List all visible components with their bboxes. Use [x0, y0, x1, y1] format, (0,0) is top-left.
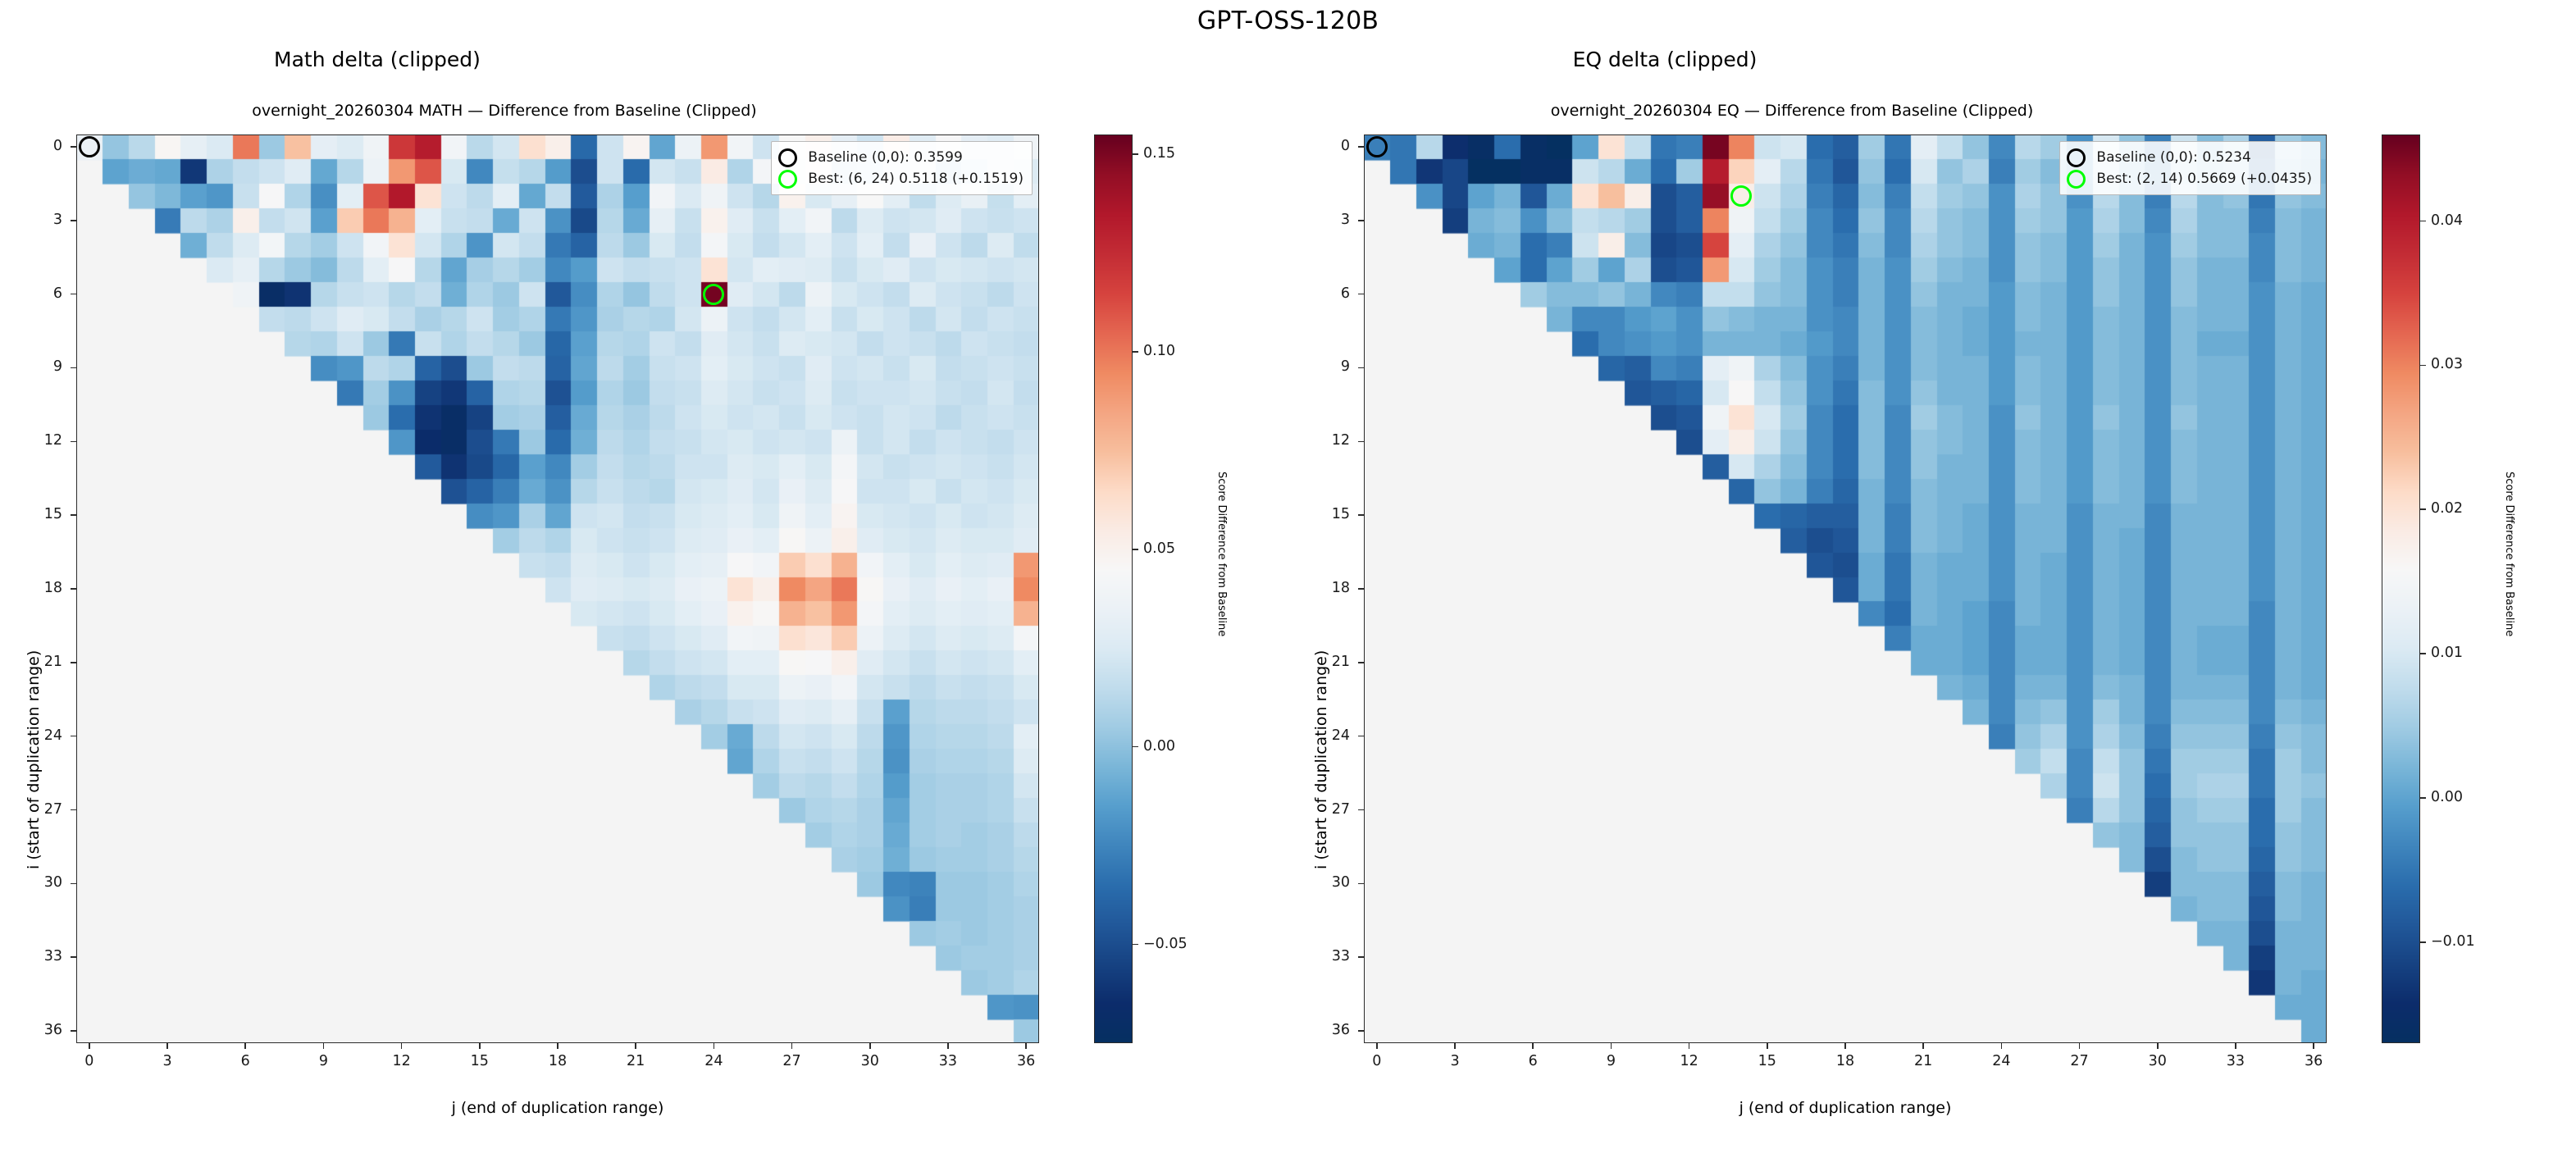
xtick-label: 33 [2203, 1053, 2268, 1069]
baseline-circle-icon [778, 148, 797, 167]
baseline-marker[interactable] [79, 136, 100, 157]
ytick-label: 33 [1284, 948, 1350, 964]
ytick-mark [71, 1030, 76, 1032]
xtick-label: 36 [2281, 1053, 2346, 1069]
ytick-mark [71, 883, 76, 885]
ytick-label: 18 [1284, 580, 1350, 596]
xtick-label: 3 [134, 1053, 200, 1069]
ytick-label: 24 [0, 727, 62, 744]
xtick-mark [479, 1043, 481, 1049]
xtick-label: 6 [1500, 1053, 1566, 1069]
colorbar-tick-mark [1133, 549, 1138, 550]
colorbar-tick-mark [2420, 508, 2426, 510]
ytick-label: 33 [0, 948, 62, 964]
colorbar-tick-mark [1133, 746, 1138, 748]
colorbar-tick-mark [1133, 153, 1138, 155]
colorbar-tick-mark [2420, 653, 2426, 654]
panel-math-ylabel: i (start of duplication range) [25, 650, 43, 869]
ytick-label: 3 [0, 212, 62, 228]
panel-eq-xlabel: j (end of duplication range) [1364, 1099, 2327, 1117]
ytick-label: 0 [0, 138, 62, 154]
xtick-label: 27 [759, 1053, 825, 1069]
heatmap-math-cells [77, 135, 1039, 1043]
ytick-mark [71, 367, 76, 369]
xtick-label: 12 [1657, 1053, 1722, 1069]
colorbar-eq-label: Score Difference from Baseline [2503, 472, 2515, 636]
xtick-mark [323, 1043, 325, 1049]
colorbar-eq-gradient [2382, 135, 2420, 1043]
ytick-label: 30 [0, 874, 62, 891]
ytick-label: 3 [1284, 212, 1350, 228]
ytick-mark [1358, 220, 1364, 221]
colorbar-tick-mark [2420, 797, 2426, 799]
xtick-mark [635, 1043, 636, 1049]
baseline-circle-icon [2067, 148, 2086, 167]
xtick-label: 18 [525, 1053, 590, 1069]
ytick-mark [1358, 441, 1364, 443]
xtick-label: 21 [603, 1053, 668, 1069]
colorbar-eq [2382, 134, 2420, 1043]
panel-math-subtitle: overnight_20260304 MATH — Difference fro… [0, 102, 1009, 120]
ytick-label: 15 [1284, 506, 1350, 522]
colorbar-tick-label: 0.15 [1143, 145, 1175, 162]
xtick-mark [1767, 1043, 1768, 1049]
colorbar-tick-mark [2420, 221, 2426, 222]
colorbar-tick-label: 0.10 [1143, 343, 1175, 359]
ytick-mark [71, 588, 76, 590]
ytick-label: 0 [1284, 138, 1350, 154]
figure-canvas: GPT-OSS-120B Math delta (clipped) overni… [0, 0, 2576, 1167]
ytick-label: 12 [1284, 432, 1350, 449]
ytick-mark [71, 294, 76, 295]
ytick-label: 9 [1284, 358, 1350, 375]
ytick-mark [1358, 662, 1364, 663]
xtick-mark [1922, 1043, 1924, 1049]
panel-math-title: Math delta (clipped) [0, 48, 755, 71]
panel-math-xlabel: j (end of duplication range) [76, 1099, 1039, 1117]
xtick-mark [2001, 1043, 2003, 1049]
xtick-mark [1611, 1043, 1612, 1049]
legend-box: Baseline (0,0): 0.3599Best: (6, 24) 0.51… [771, 141, 1033, 195]
xtick-label: 36 [993, 1053, 1059, 1069]
colorbar-tick-label: 0.01 [2431, 645, 2463, 661]
xtick-mark [947, 1043, 949, 1049]
colorbar-tick-label: 0.02 [2431, 500, 2463, 517]
ytick-label: 30 [1284, 874, 1350, 891]
ytick-label: 27 [1284, 801, 1350, 818]
ytick-label: 21 [0, 654, 62, 670]
xtick-label: 12 [369, 1053, 435, 1069]
xtick-label: 0 [1344, 1053, 1410, 1069]
xtick-label: 24 [1968, 1053, 2034, 1069]
xtick-label: 9 [290, 1053, 356, 1069]
xtick-mark [2235, 1043, 2236, 1049]
xtick-mark [2079, 1043, 2081, 1049]
xtick-mark [89, 1043, 90, 1049]
ytick-label: 12 [0, 432, 62, 449]
xtick-mark [791, 1043, 793, 1049]
xtick-label: 30 [837, 1053, 903, 1069]
ytick-mark [71, 146, 76, 148]
xtick-label: 15 [1735, 1053, 1800, 1069]
xtick-mark [2157, 1043, 2159, 1049]
ytick-mark [1358, 367, 1364, 369]
ytick-label: 36 [1284, 1022, 1350, 1038]
ytick-label: 21 [1284, 654, 1350, 670]
xtick-mark [1376, 1043, 1378, 1049]
ytick-mark [1358, 294, 1364, 295]
xtick-label: 27 [2047, 1053, 2113, 1069]
xtick-label: 9 [1578, 1053, 1644, 1069]
best-marker[interactable] [703, 284, 724, 305]
ytick-mark [1358, 1030, 1364, 1032]
heatmap-eq[interactable] [1364, 134, 2327, 1043]
xtick-label: 30 [2125, 1053, 2191, 1069]
ytick-label: 27 [0, 801, 62, 818]
legend-row-baseline: Baseline (0,0): 0.5234 [2067, 147, 2312, 168]
heatmap-math[interactable] [76, 134, 1039, 1043]
ytick-mark [1358, 809, 1364, 811]
colorbar-tick-mark [2420, 365, 2426, 367]
ytick-label: 6 [1284, 285, 1350, 302]
panel-eq-ylabel: i (start of duplication range) [1312, 650, 1330, 869]
xtick-label: 0 [57, 1053, 122, 1069]
ytick-label: 15 [0, 506, 62, 522]
xtick-mark [2313, 1043, 2314, 1049]
xtick-label: 21 [1890, 1053, 1956, 1069]
xtick-mark [1532, 1043, 1534, 1049]
ytick-label: 24 [1284, 727, 1350, 744]
legend-baseline-label: Baseline (0,0): 0.3599 [808, 149, 962, 166]
colorbar-tick-label: 0.00 [1143, 738, 1175, 754]
ytick-mark [71, 809, 76, 811]
xtick-mark [166, 1043, 168, 1049]
legend-row-baseline: Baseline (0,0): 0.3599 [778, 147, 1024, 168]
xtick-mark [1844, 1043, 1846, 1049]
xtick-label: 33 [915, 1053, 981, 1069]
baseline-marker[interactable] [1366, 136, 1388, 157]
heatmap-eq-cells [1365, 135, 2327, 1043]
ytick-mark [1358, 514, 1364, 516]
xtick-label: 15 [447, 1053, 513, 1069]
ytick-mark [1358, 883, 1364, 885]
ytick-mark [1358, 588, 1364, 590]
legend-row-best: Best: (6, 24) 0.5118 (+0.1519) [778, 168, 1024, 189]
ytick-label: 6 [0, 285, 62, 302]
xtick-mark [869, 1043, 871, 1049]
colorbar-tick-mark [1133, 944, 1138, 946]
panel-eq-subtitle: overnight_20260304 EQ — Difference from … [1288, 102, 2296, 120]
colorbar-tick-label: −0.05 [1143, 936, 1188, 952]
ytick-mark [1358, 146, 1364, 148]
ytick-mark [1358, 956, 1364, 958]
colorbar-tick-label: 0.00 [2431, 789, 2463, 805]
ytick-mark [71, 662, 76, 663]
ytick-mark [71, 220, 76, 221]
colorbar-tick-label: 0.04 [2431, 212, 2463, 229]
colorbar-tick-label: 0.05 [1143, 540, 1175, 557]
xtick-label: 24 [681, 1053, 746, 1069]
xtick-mark [401, 1043, 403, 1049]
colorbar-tick-label: 0.03 [2431, 356, 2463, 372]
ytick-mark [1358, 736, 1364, 737]
legend-best-label: Best: (6, 24) 0.5118 (+0.1519) [808, 171, 1024, 187]
colorbar-math-label: Score Difference from Baseline [1215, 472, 1228, 636]
colorbar-math-gradient [1095, 135, 1133, 1043]
ytick-mark [71, 956, 76, 958]
colorbar-tick-mark [2420, 941, 2426, 943]
xtick-mark [1689, 1043, 1690, 1049]
xtick-mark [244, 1043, 246, 1049]
xtick-label: 3 [1422, 1053, 1488, 1069]
best-circle-icon [778, 170, 797, 189]
legend-row-best: Best: (2, 14) 0.5669 (+0.0435) [2067, 168, 2312, 189]
xtick-mark [557, 1043, 559, 1049]
ytick-mark [71, 514, 76, 516]
colorbar-tick-label: −0.01 [2431, 933, 2475, 950]
legend-best-label: Best: (2, 14) 0.5669 (+0.0435) [2096, 171, 2312, 187]
xtick-label: 18 [1812, 1053, 1878, 1069]
legend-box: Baseline (0,0): 0.5234Best: (2, 14) 0.56… [2059, 141, 2321, 195]
xtick-mark [1454, 1043, 1456, 1049]
panel-math: Math delta (clipped) overnight_20260304 … [0, 0, 1288, 1167]
colorbar-tick-mark [1133, 351, 1138, 353]
ytick-label: 9 [0, 358, 62, 375]
colorbar-math [1094, 134, 1133, 1043]
xtick-mark [1025, 1043, 1027, 1049]
xtick-mark [714, 1043, 715, 1049]
legend-baseline-label: Baseline (0,0): 0.5234 [2096, 149, 2250, 166]
panel-eq: EQ delta (clipped) overnight_20260304 EQ… [1288, 0, 2576, 1167]
xtick-label: 6 [212, 1053, 278, 1069]
ytick-label: 36 [0, 1022, 62, 1038]
best-circle-icon [2067, 170, 2086, 189]
ytick-mark [71, 736, 76, 737]
ytick-label: 18 [0, 580, 62, 596]
best-marker[interactable] [1730, 185, 1752, 207]
ytick-mark [71, 441, 76, 443]
panel-eq-title: EQ delta (clipped) [1288, 48, 2042, 71]
